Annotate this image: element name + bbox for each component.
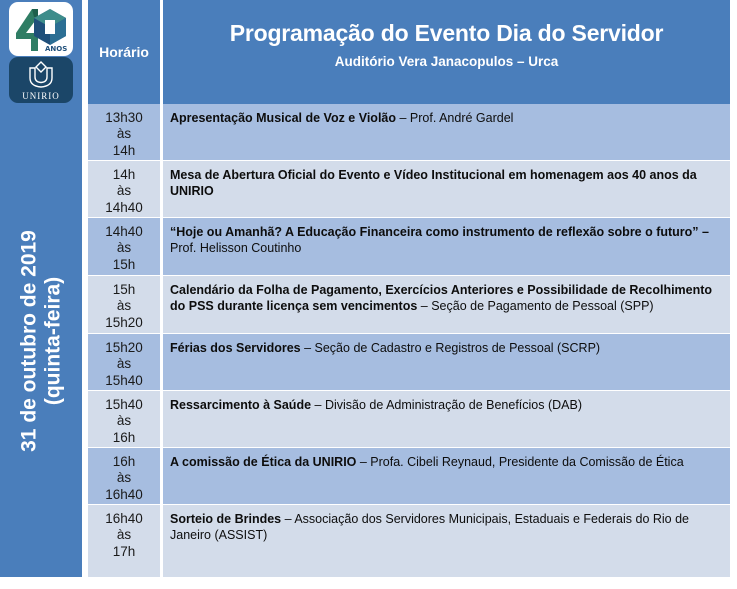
row-time-connector: às: [88, 356, 160, 372]
row-description-cell: Apresentação Musical de Voz e Violão – P…: [163, 104, 730, 160]
table-row: 14hàs14h40Mesa de Abertura Oficial do Ev…: [88, 161, 730, 218]
table-row: 13h30às14hApresentação Musical de Voz e …: [88, 104, 730, 161]
event-schedule-poster: ANOS UNIRIO Horário Programação do Event…: [0, 0, 737, 589]
horario-label: Horário: [99, 44, 149, 60]
row-description-cell: A comissão de Ética da UNIRIO – Profa. C…: [163, 448, 730, 504]
bottom-margin: [0, 577, 737, 589]
row-activity-detail: – Prof. André Gardel: [396, 111, 513, 125]
row-activity-detail: Prof. Helisson Coutinho: [170, 241, 301, 255]
row-time-connector: às: [88, 126, 160, 142]
row-time-end: 15h20: [88, 315, 160, 331]
row-activity-detail: – Divisão de Administração de Benefícios…: [311, 398, 582, 412]
row-time-start: 15h20: [88, 340, 160, 356]
table-row: 16hàs16h40A comissão de Ética da UNIRIO …: [88, 448, 730, 505]
logo-cell: ANOS UNIRIO: [0, 0, 82, 104]
poster-body: 31 de outubro de 2019 (quinta-feira) 13h…: [0, 104, 730, 577]
row-time-end: 16h: [88, 430, 160, 446]
row-description-cell: Sorteio de Brindes – Associação dos Serv…: [163, 505, 730, 577]
row-activity-detail: – Seção de Pagamento de Pessoal (SPP): [417, 299, 653, 313]
table-row: 15h20às15h40Férias dos Servidores – Seçã…: [88, 334, 730, 391]
row-description-cell: Mesa de Abertura Oficial do Evento e Víd…: [163, 161, 730, 217]
date-line-1: 31 de outubro de 2019: [17, 230, 40, 452]
row-activity-title: Sorteio de Brindes: [170, 512, 281, 526]
row-time-start: 13h30: [88, 110, 160, 126]
row-time-cell: 16hàs16h40: [88, 448, 160, 504]
column-header-horario: Horário: [88, 0, 160, 104]
row-time-connector: às: [88, 413, 160, 429]
row-activity-title: Mesa de Abertura Oficial do Evento e Víd…: [170, 168, 697, 198]
date-line-2: (quinta-feira): [41, 230, 65, 452]
table-row: 15h40às16hRessarcimento à Saúde – Divisã…: [88, 391, 730, 448]
table-row: 14h40às15h“Hoje ou Amanhã? A Educação Fi…: [88, 218, 730, 276]
row-description-cell: Férias dos Servidores – Seção de Cadastr…: [163, 334, 730, 390]
page-subtitle: Auditório Vera Janacopulos – Urca: [335, 54, 559, 69]
row-time-end: 16h40: [88, 487, 160, 503]
anniversary-40-logo-icon: ANOS: [9, 2, 73, 56]
row-time-start: 16h: [88, 454, 160, 470]
unirio-mark-svg: [24, 60, 58, 90]
row-time-cell: 15h40às16h: [88, 391, 160, 447]
poster-header: ANOS UNIRIO Horário Programação do Event…: [0, 0, 730, 104]
schedule-rows: 13h30às14hApresentação Musical de Voz e …: [88, 104, 730, 577]
row-time-connector: às: [88, 470, 160, 486]
row-time-start: 14h: [88, 167, 160, 183]
row-time-cell: 13h30às14h: [88, 104, 160, 160]
row-activity-title: Férias dos Servidores: [170, 341, 301, 355]
poster-title-cell: Programação do Evento Dia do Servidor Au…: [163, 0, 730, 104]
row-activity-detail: – Profa. Cibeli Reynaud, Presidente da C…: [356, 455, 683, 469]
row-activity-title: A comissão de Ética da UNIRIO: [170, 455, 356, 469]
row-time-start: 15h: [88, 282, 160, 298]
row-time-end: 17h: [88, 544, 160, 560]
row-time-start: 15h40: [88, 397, 160, 413]
row-time-end: 14h40: [88, 200, 160, 216]
right-margin: [730, 0, 737, 589]
row-time-connector: às: [88, 527, 160, 543]
row-time-cell: 15h20às15h40: [88, 334, 160, 390]
table-row: 15hàs15h20Calendário da Folha de Pagamen…: [88, 276, 730, 334]
row-time-end: 15h: [88, 257, 160, 273]
table-row: 16h40às17hSorteio de Brindes – Associaçã…: [88, 505, 730, 577]
anos-text: ANOS: [45, 45, 67, 53]
row-activity-title: “Hoje ou Amanhã? A Educação Financeira c…: [170, 225, 709, 239]
row-time-connector: às: [88, 298, 160, 314]
row-time-cell: 14hàs14h40: [88, 161, 160, 217]
row-time-cell: 16h40às17h: [88, 505, 160, 577]
row-time-cell: 14h40às15h: [88, 218, 160, 275]
row-time-start: 14h40: [88, 224, 160, 240]
unirio-logo-icon: UNIRIO: [9, 57, 73, 103]
row-activity-title: Ressarcimento à Saúde: [170, 398, 311, 412]
page-title: Programação do Evento Dia do Servidor: [230, 21, 664, 47]
row-description-cell: Ressarcimento à Saúde – Divisão de Admin…: [163, 391, 730, 447]
row-description-cell: “Hoje ou Amanhã? A Educação Financeira c…: [163, 218, 730, 275]
row-time-cell: 15hàs15h20: [88, 276, 160, 333]
date-column-text: 31 de outubro de 2019 (quinta-feira): [17, 230, 64, 452]
row-time-connector: às: [88, 240, 160, 256]
row-time-connector: às: [88, 183, 160, 199]
unirio-wordmark: UNIRIO: [22, 91, 60, 101]
anniversary-40-svg: ANOS: [12, 5, 70, 53]
row-activity-title: Apresentação Musical de Voz e Violão: [170, 111, 396, 125]
row-activity-detail: – Seção de Cadastro e Registros de Pesso…: [301, 341, 600, 355]
row-time-start: 16h40: [88, 511, 160, 527]
row-time-end: 15h40: [88, 373, 160, 389]
date-column: 31 de outubro de 2019 (quinta-feira): [0, 104, 82, 577]
row-description-cell: Calendário da Folha de Pagamento, Exercí…: [163, 276, 730, 333]
row-time-end: 14h: [88, 143, 160, 159]
